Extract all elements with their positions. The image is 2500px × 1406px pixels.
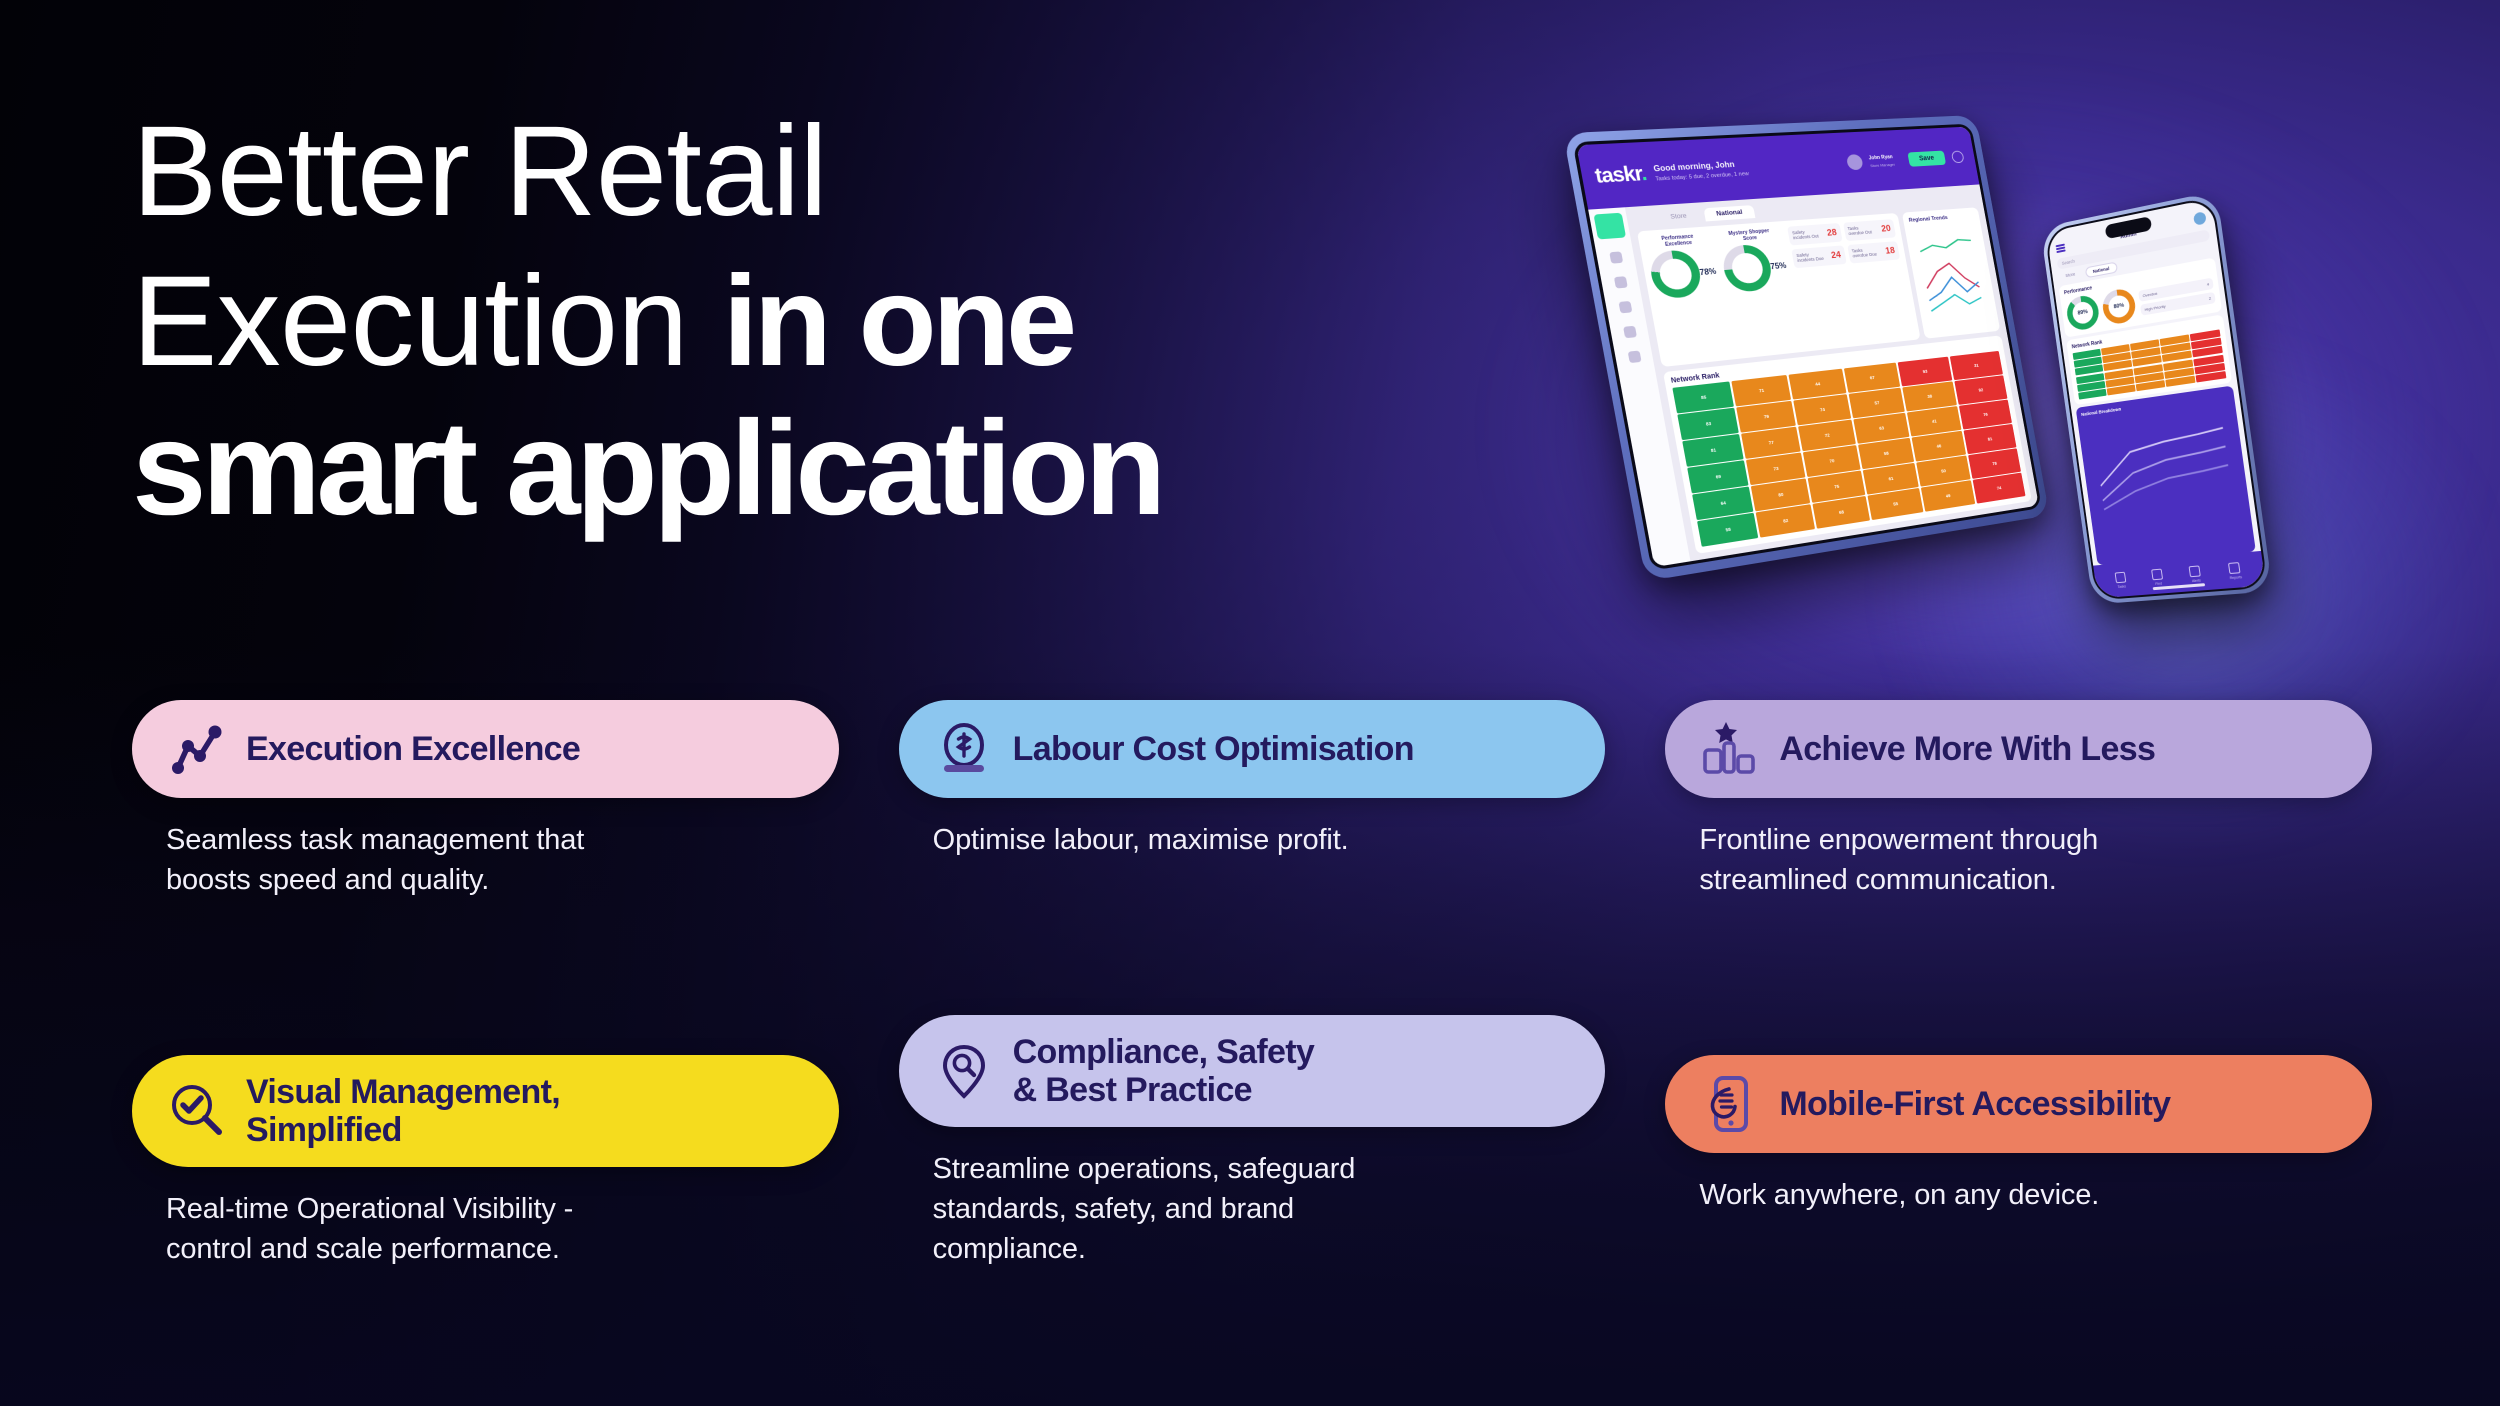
kpi-value: 20 bbox=[1881, 224, 1892, 234]
sidebar-item-search-icon[interactable] bbox=[1618, 301, 1632, 313]
feature-pill-execution-excellence[interactable]: Execution Excellence bbox=[132, 700, 839, 798]
search-placeholder: Search bbox=[2061, 259, 2075, 266]
menu-icon[interactable] bbox=[2056, 244, 2066, 253]
map-pin-search-icon bbox=[933, 1040, 995, 1102]
nav-item-tasks[interactable]: Tasks bbox=[2115, 571, 2128, 588]
headline-line-2-thin: Execution bbox=[132, 250, 723, 393]
phone-screen: Admin Search Store National Performance … bbox=[2044, 196, 2268, 601]
phone-stat-pills: Overdue4 High Priority2 bbox=[2138, 277, 2216, 315]
sparkline-group: Regional Trends bbox=[1908, 213, 1994, 332]
tablet-greeting: Good morning, John Tasks today: 5 due, 2… bbox=[1653, 154, 1841, 182]
feature-description: Streamline operations, safeguard standar… bbox=[899, 1149, 1499, 1269]
feature-title: Achieve More With Less bbox=[1779, 730, 2155, 768]
feature-title: Mobile-First Accessibility bbox=[1779, 1085, 2170, 1123]
feature-pill-mobile-first[interactable]: Mobile-First Accessibility bbox=[1665, 1055, 2372, 1153]
feature-description: Frontline enpowerment through streamline… bbox=[1665, 820, 2265, 900]
phone-stat-value: 2 bbox=[2208, 295, 2211, 300]
phone-line-chart bbox=[2082, 398, 2245, 522]
phone-stat-label: High Priority bbox=[2144, 303, 2166, 312]
kpi-value: 24 bbox=[1830, 250, 1841, 261]
feature-title: Visual Management, Simplified bbox=[246, 1073, 560, 1149]
chip-store[interactable]: Store bbox=[2058, 268, 2082, 283]
sidebar-item-settings-icon[interactable] bbox=[1627, 351, 1641, 364]
tablet-body: Store National Performance Excellence bbox=[1588, 184, 2039, 567]
nav-label-tasks: Tasks bbox=[2117, 584, 2126, 589]
sidebar-item-reports-icon[interactable] bbox=[1623, 326, 1637, 339]
gauge-mystery-ring: 75% bbox=[1720, 242, 1790, 293]
phone-mockup: Admin Search Store National Performance … bbox=[2040, 191, 2273, 605]
headline-line-3: smart application bbox=[132, 402, 1612, 536]
phone-stat-value: 4 bbox=[2206, 281, 2209, 286]
tab-store[interactable]: Store bbox=[1657, 209, 1701, 225]
kpi-item: Safety incidents Out 28 bbox=[1787, 223, 1842, 245]
headline-line-1: Better Retail bbox=[132, 108, 1612, 236]
headline-line-2: Execution in one bbox=[132, 258, 1612, 386]
nav-label-reports: Reports bbox=[2229, 575, 2242, 580]
performance-card: Performance Excellence 78% Mystery Shopp… bbox=[1637, 213, 1921, 367]
bell-icon bbox=[2189, 565, 2201, 577]
gauge-group: Performance Excellence 78% Mystery Shopp… bbox=[1644, 219, 1914, 360]
sidebar-item-dashboard[interactable] bbox=[1594, 213, 1627, 240]
feature-column-3: Achieve More With Less Frontline enpower… bbox=[1665, 700, 2372, 1269]
tablet-screen: taskr. Good morning, John Tasks today: 5… bbox=[1572, 124, 2042, 571]
kpi-value: 18 bbox=[1885, 245, 1896, 255]
kpi-label: Safety incidents Due bbox=[1796, 251, 1825, 264]
tablet-mockup: taskr. Good morning, John Tasks today: 5… bbox=[1563, 115, 2050, 581]
kpi-label: Tasks overdue Out bbox=[1847, 224, 1875, 236]
gauge-performance-label: Performance Excellence bbox=[1653, 233, 1703, 249]
kpi-label: Safety incidents Out bbox=[1792, 228, 1821, 241]
feature-description: Seamless task management that boosts spe… bbox=[132, 820, 732, 900]
gauge-mystery: Mystery Shopper Score 75% bbox=[1717, 227, 1790, 293]
magnifier-check-icon bbox=[166, 1080, 228, 1142]
avatar[interactable] bbox=[2193, 211, 2207, 226]
kpi-item: Tasks overdue Out 20 bbox=[1843, 219, 1896, 241]
sidebar-item-tasks-icon[interactable] bbox=[1609, 251, 1623, 263]
sidebar-item-alerts-icon[interactable] bbox=[1613, 276, 1627, 288]
phone-stat-label: Overdue bbox=[2142, 290, 2157, 298]
tablet-user-role: Store Manager bbox=[1870, 161, 1902, 168]
nav-item-alerts[interactable]: Alerts bbox=[2189, 565, 2202, 583]
clipboard-icon bbox=[2115, 571, 2127, 583]
phone-gauge-1: 89% bbox=[2065, 293, 2101, 331]
feature-pill-compliance-safety[interactable]: Compliance, Safety & Best Practice bbox=[899, 1015, 1606, 1127]
gauge-mystery-value: 75% bbox=[1770, 260, 1787, 270]
tablet-main-content: Store National Performance Excellence bbox=[1625, 184, 2039, 561]
tab-national[interactable]: National bbox=[1703, 205, 1756, 221]
feature-column-1: Execution Excellence Seamless task manag… bbox=[132, 700, 839, 1269]
nav-label-find: Find bbox=[2155, 581, 2162, 585]
mobile-tap-icon bbox=[1699, 1073, 1761, 1135]
kpi-grid: Safety incidents Out 28 Tasks overdue Ou… bbox=[1787, 219, 1900, 268]
report-icon bbox=[2228, 562, 2241, 574]
headline-line-2-bold: in one bbox=[723, 250, 1073, 393]
taskr-logo: taskr. bbox=[1593, 162, 1648, 188]
feature-description: Work anywhere, on any device. bbox=[1665, 1175, 2265, 1215]
gauge-mystery-label: Mystery Shopper Score bbox=[1725, 228, 1773, 243]
feature-title: Compliance, Safety & Best Practice bbox=[1013, 1033, 1314, 1109]
heatmap-grid: 8571446793318379745738928177726341766973… bbox=[1672, 351, 2025, 547]
coin-dollar-icon bbox=[933, 718, 995, 780]
device-mockup-group: taskr. Good morning, John Tasks today: 5… bbox=[1590, 120, 2410, 660]
feature-grid: Execution Excellence Seamless task manag… bbox=[132, 700, 2372, 1269]
feature-pill-achieve-more[interactable]: Achieve More With Less bbox=[1665, 700, 2372, 798]
tablet-user-name: John Ryan bbox=[1868, 153, 1901, 160]
nav-item-find[interactable]: Find bbox=[2151, 568, 2164, 586]
gear-icon[interactable] bbox=[1951, 150, 1965, 163]
line-chart-icon bbox=[166, 718, 228, 780]
regional-trends-chart bbox=[1910, 222, 1994, 332]
tablet-user-info: John Ryan Store Manager bbox=[1868, 153, 1902, 167]
feature-column-2: Labour Cost Optimisation Optimise labour… bbox=[899, 700, 1606, 1269]
phone-gauge-2-value: 80% bbox=[2113, 303, 2124, 311]
kpi-value: 28 bbox=[1826, 228, 1837, 238]
nav-label-alerts: Alerts bbox=[2192, 578, 2201, 583]
phone-breakdown-chart: National Breakdown bbox=[2076, 385, 2256, 565]
feature-pill-labour-cost[interactable]: Labour Cost Optimisation bbox=[899, 700, 1606, 798]
phone-gauge-1-value: 89% bbox=[2077, 309, 2088, 317]
kpi-item: Tasks overdue Due 18 bbox=[1847, 241, 1900, 263]
poster-stage: Better Retail Execution in one smart app… bbox=[0, 0, 2500, 1406]
page-title: Better Retail Execution in one smart app… bbox=[132, 108, 1612, 536]
feature-title: Execution Excellence bbox=[246, 730, 580, 768]
gauge-performance-ring: 78% bbox=[1647, 248, 1720, 300]
bar-chart-star-icon bbox=[1699, 718, 1761, 780]
tablet-avatar bbox=[1845, 154, 1863, 170]
feature-description: Optimise labour, maximise profit. bbox=[899, 820, 1499, 860]
search-icon bbox=[2151, 568, 2163, 580]
feature-title: Labour Cost Optimisation bbox=[1013, 730, 1414, 768]
feature-pill-visual-management[interactable]: Visual Management, Simplified bbox=[132, 1055, 839, 1167]
taskr-logo-text: taskr bbox=[1593, 162, 1643, 187]
network-rank-card: Network Rank 857144679331837974573892817… bbox=[1663, 335, 2032, 554]
nav-item-reports[interactable]: Reports bbox=[2227, 561, 2242, 579]
feature-description: Real-time Operational Visibility - contr… bbox=[132, 1189, 732, 1269]
gauge-performance: Performance Excellence 78% bbox=[1644, 232, 1720, 299]
phone-gauge-2: 80% bbox=[2101, 287, 2138, 326]
kpi-item: Safety incidents Due 24 bbox=[1791, 245, 1846, 268]
kpi-label: Tasks overdue Due bbox=[1851, 246, 1879, 259]
gauge-performance-value: 78% bbox=[1699, 266, 1717, 276]
tablet-save-button[interactable]: Save bbox=[1907, 150, 1946, 166]
